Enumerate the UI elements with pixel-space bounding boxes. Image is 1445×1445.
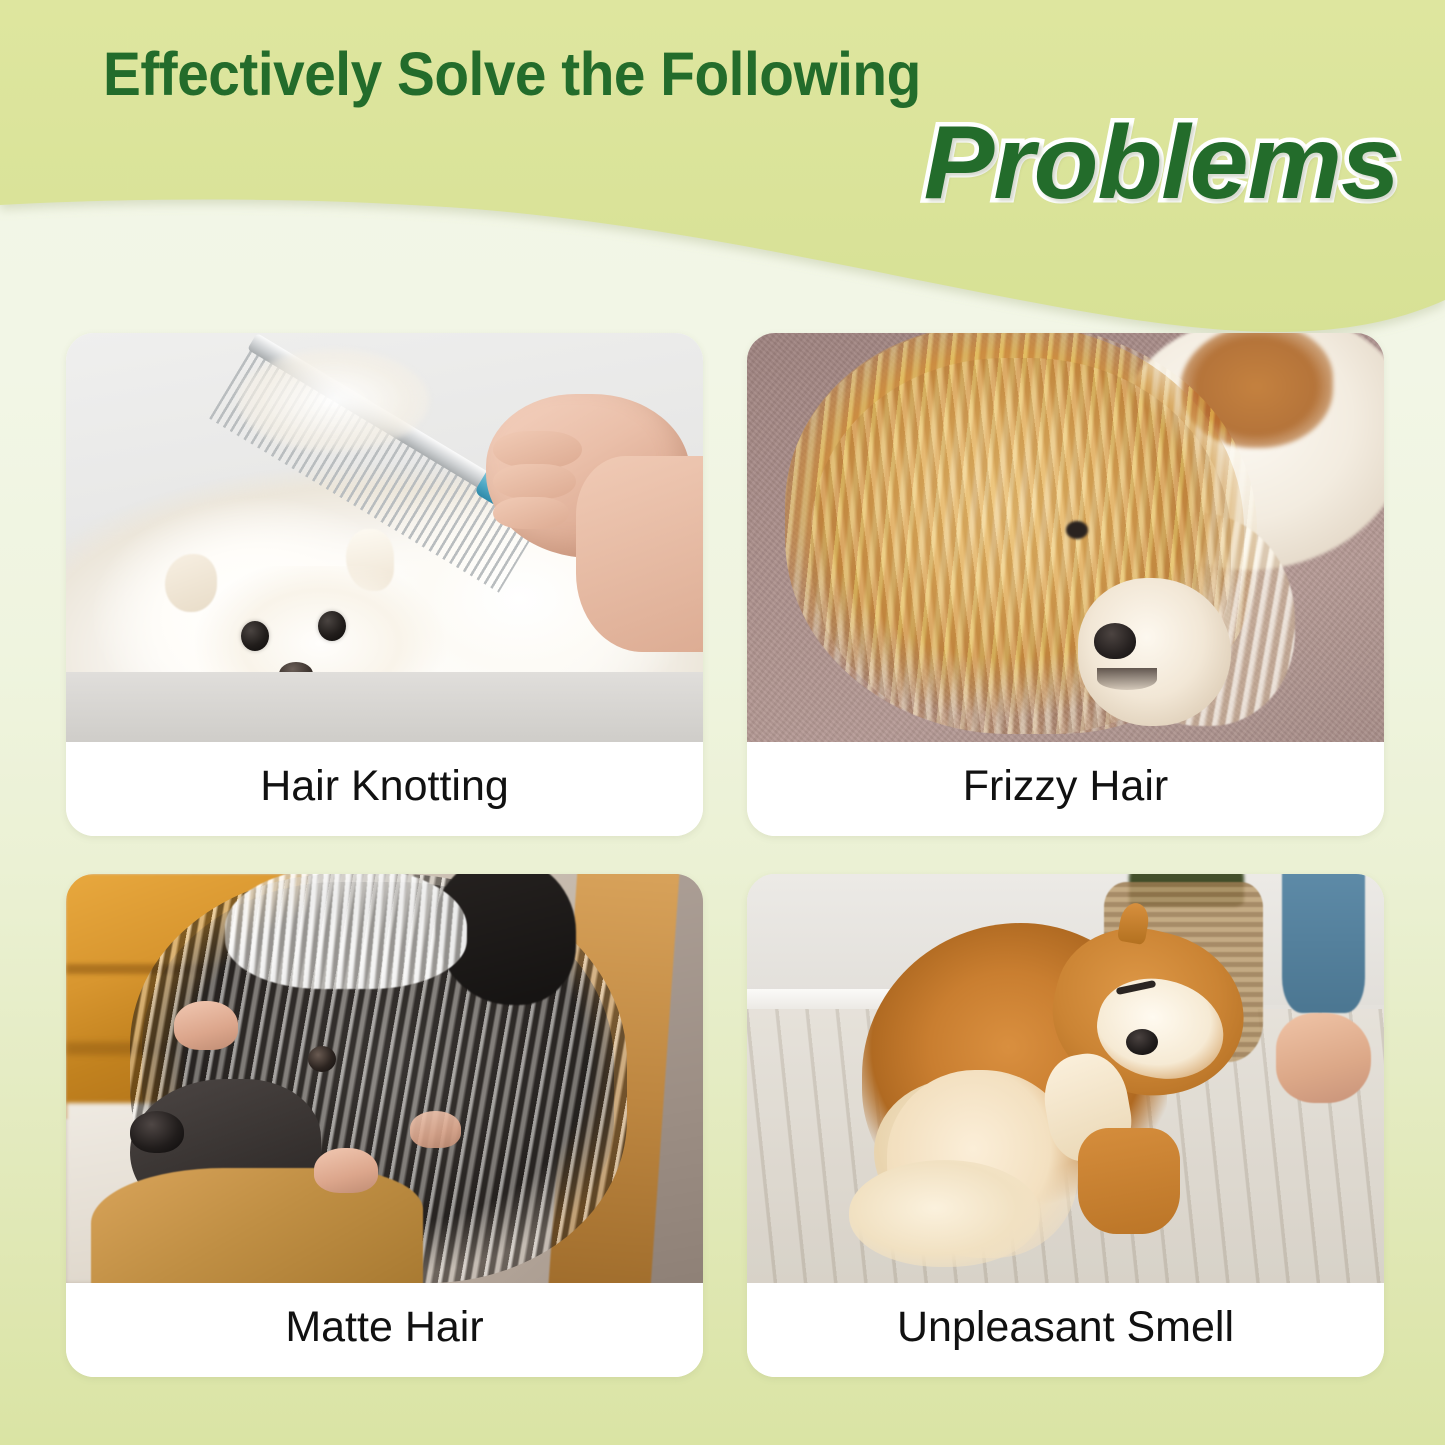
problem-card-unpleasant-smell[interactable]: Unpleasant Smell: [747, 874, 1384, 1377]
photo-matte-hair: [66, 874, 703, 1283]
page-title-line-1: Effectively Solve the Following: [103, 41, 921, 107]
card-label-hair-knotting: Hair Knotting: [66, 742, 703, 836]
card-label-matte-hair: Matte Hair: [66, 1283, 703, 1377]
card-label-frizzy-hair: Frizzy Hair: [747, 742, 1384, 836]
header: Effectively Solve the Following Problems: [0, 0, 1445, 250]
card-label-unpleasant-smell: Unpleasant Smell: [747, 1283, 1384, 1377]
poster-root: Effectively Solve the Following Problems: [0, 0, 1445, 1445]
problem-card-frizzy-hair[interactable]: Frizzy Hair: [747, 333, 1384, 836]
problem-card-hair-knotting[interactable]: Hair Knotting: [66, 333, 703, 836]
photo-frizzy-hair: [747, 333, 1384, 742]
page-title-line-2: Problems: [924, 108, 1399, 218]
photo-hair-knotting: [66, 333, 703, 742]
problem-card-grid: Hair Knotting Frizzy Hair: [66, 333, 1384, 1377]
photo-unpleasant-smell: [747, 874, 1384, 1283]
problem-card-matte-hair[interactable]: Matte Hair: [66, 874, 703, 1377]
page-title-line-2-wrap: Problems: [933, 108, 1399, 218]
